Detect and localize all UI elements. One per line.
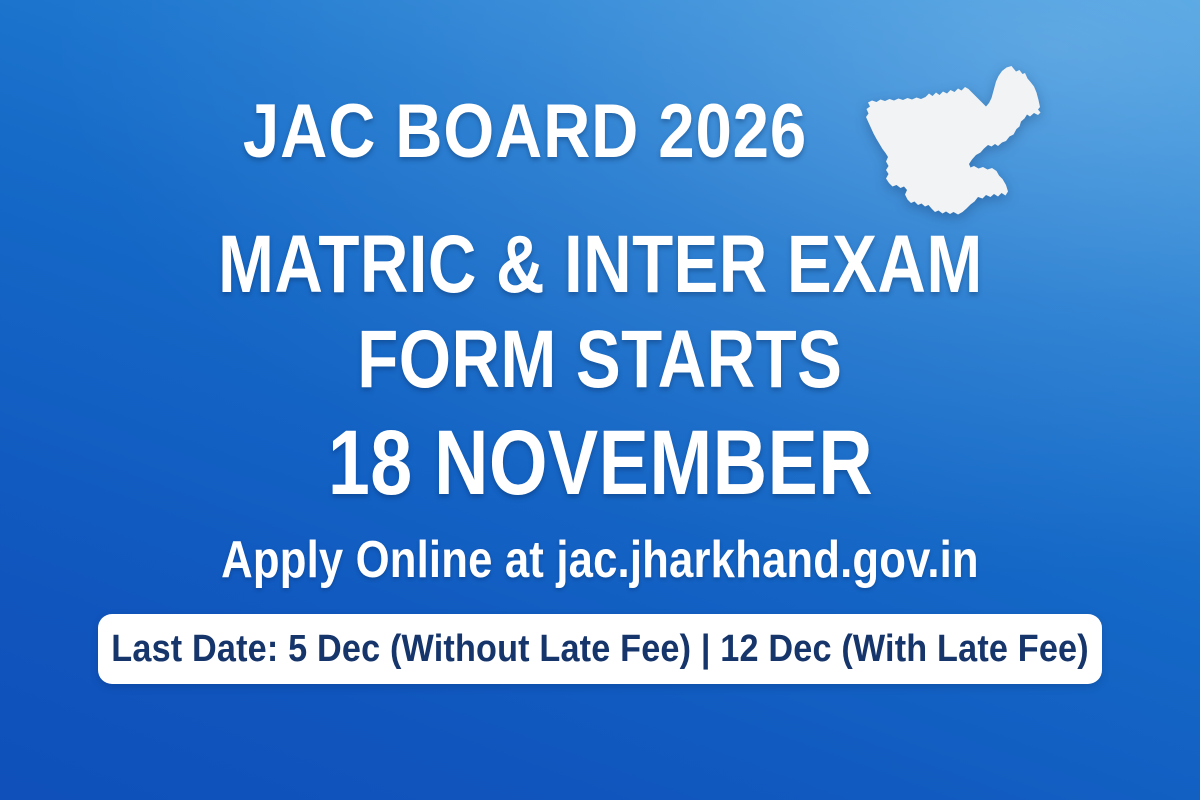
- headline-exam-text: MATRIC & INTER EXAM: [218, 224, 983, 306]
- headline-form-starts-text: FORM STARTS: [357, 319, 842, 401]
- headline-exam: MATRIC & INTER EXAM: [0, 224, 1200, 306]
- headline-start-date: 18 NOVEMBER: [0, 417, 1200, 509]
- last-date-banner: Last Date: 5 Dec (Without Late Fee) | 12…: [98, 614, 1102, 684]
- headline-form-starts: FORM STARTS: [0, 319, 1200, 401]
- headline-brand-text: JAC BOARD 2026: [243, 94, 807, 170]
- poster-stage: JAC BOARD 2026 MATRIC & INTER EXAM FORM …: [0, 0, 1200, 800]
- headline-start-date-text: 18 NOVEMBER: [327, 417, 872, 509]
- poster-canvas: JAC BOARD 2026 MATRIC & INTER EXAM FORM …: [0, 0, 1200, 800]
- apply-online-line: Apply Online at jac.jharkhand.gov.in: [0, 534, 1200, 586]
- last-date-banner-text: Last Date: 5 Dec (Without Late Fee) | 12…: [57, 630, 1143, 668]
- apply-online-text: Apply Online at jac.jharkhand.gov.in: [221, 534, 979, 586]
- headline-brand: JAC BOARD 2026: [0, 94, 1200, 170]
- last-date-banner-label: Last Date: 5 Dec (Without Late Fee) | 12…: [111, 630, 1089, 668]
